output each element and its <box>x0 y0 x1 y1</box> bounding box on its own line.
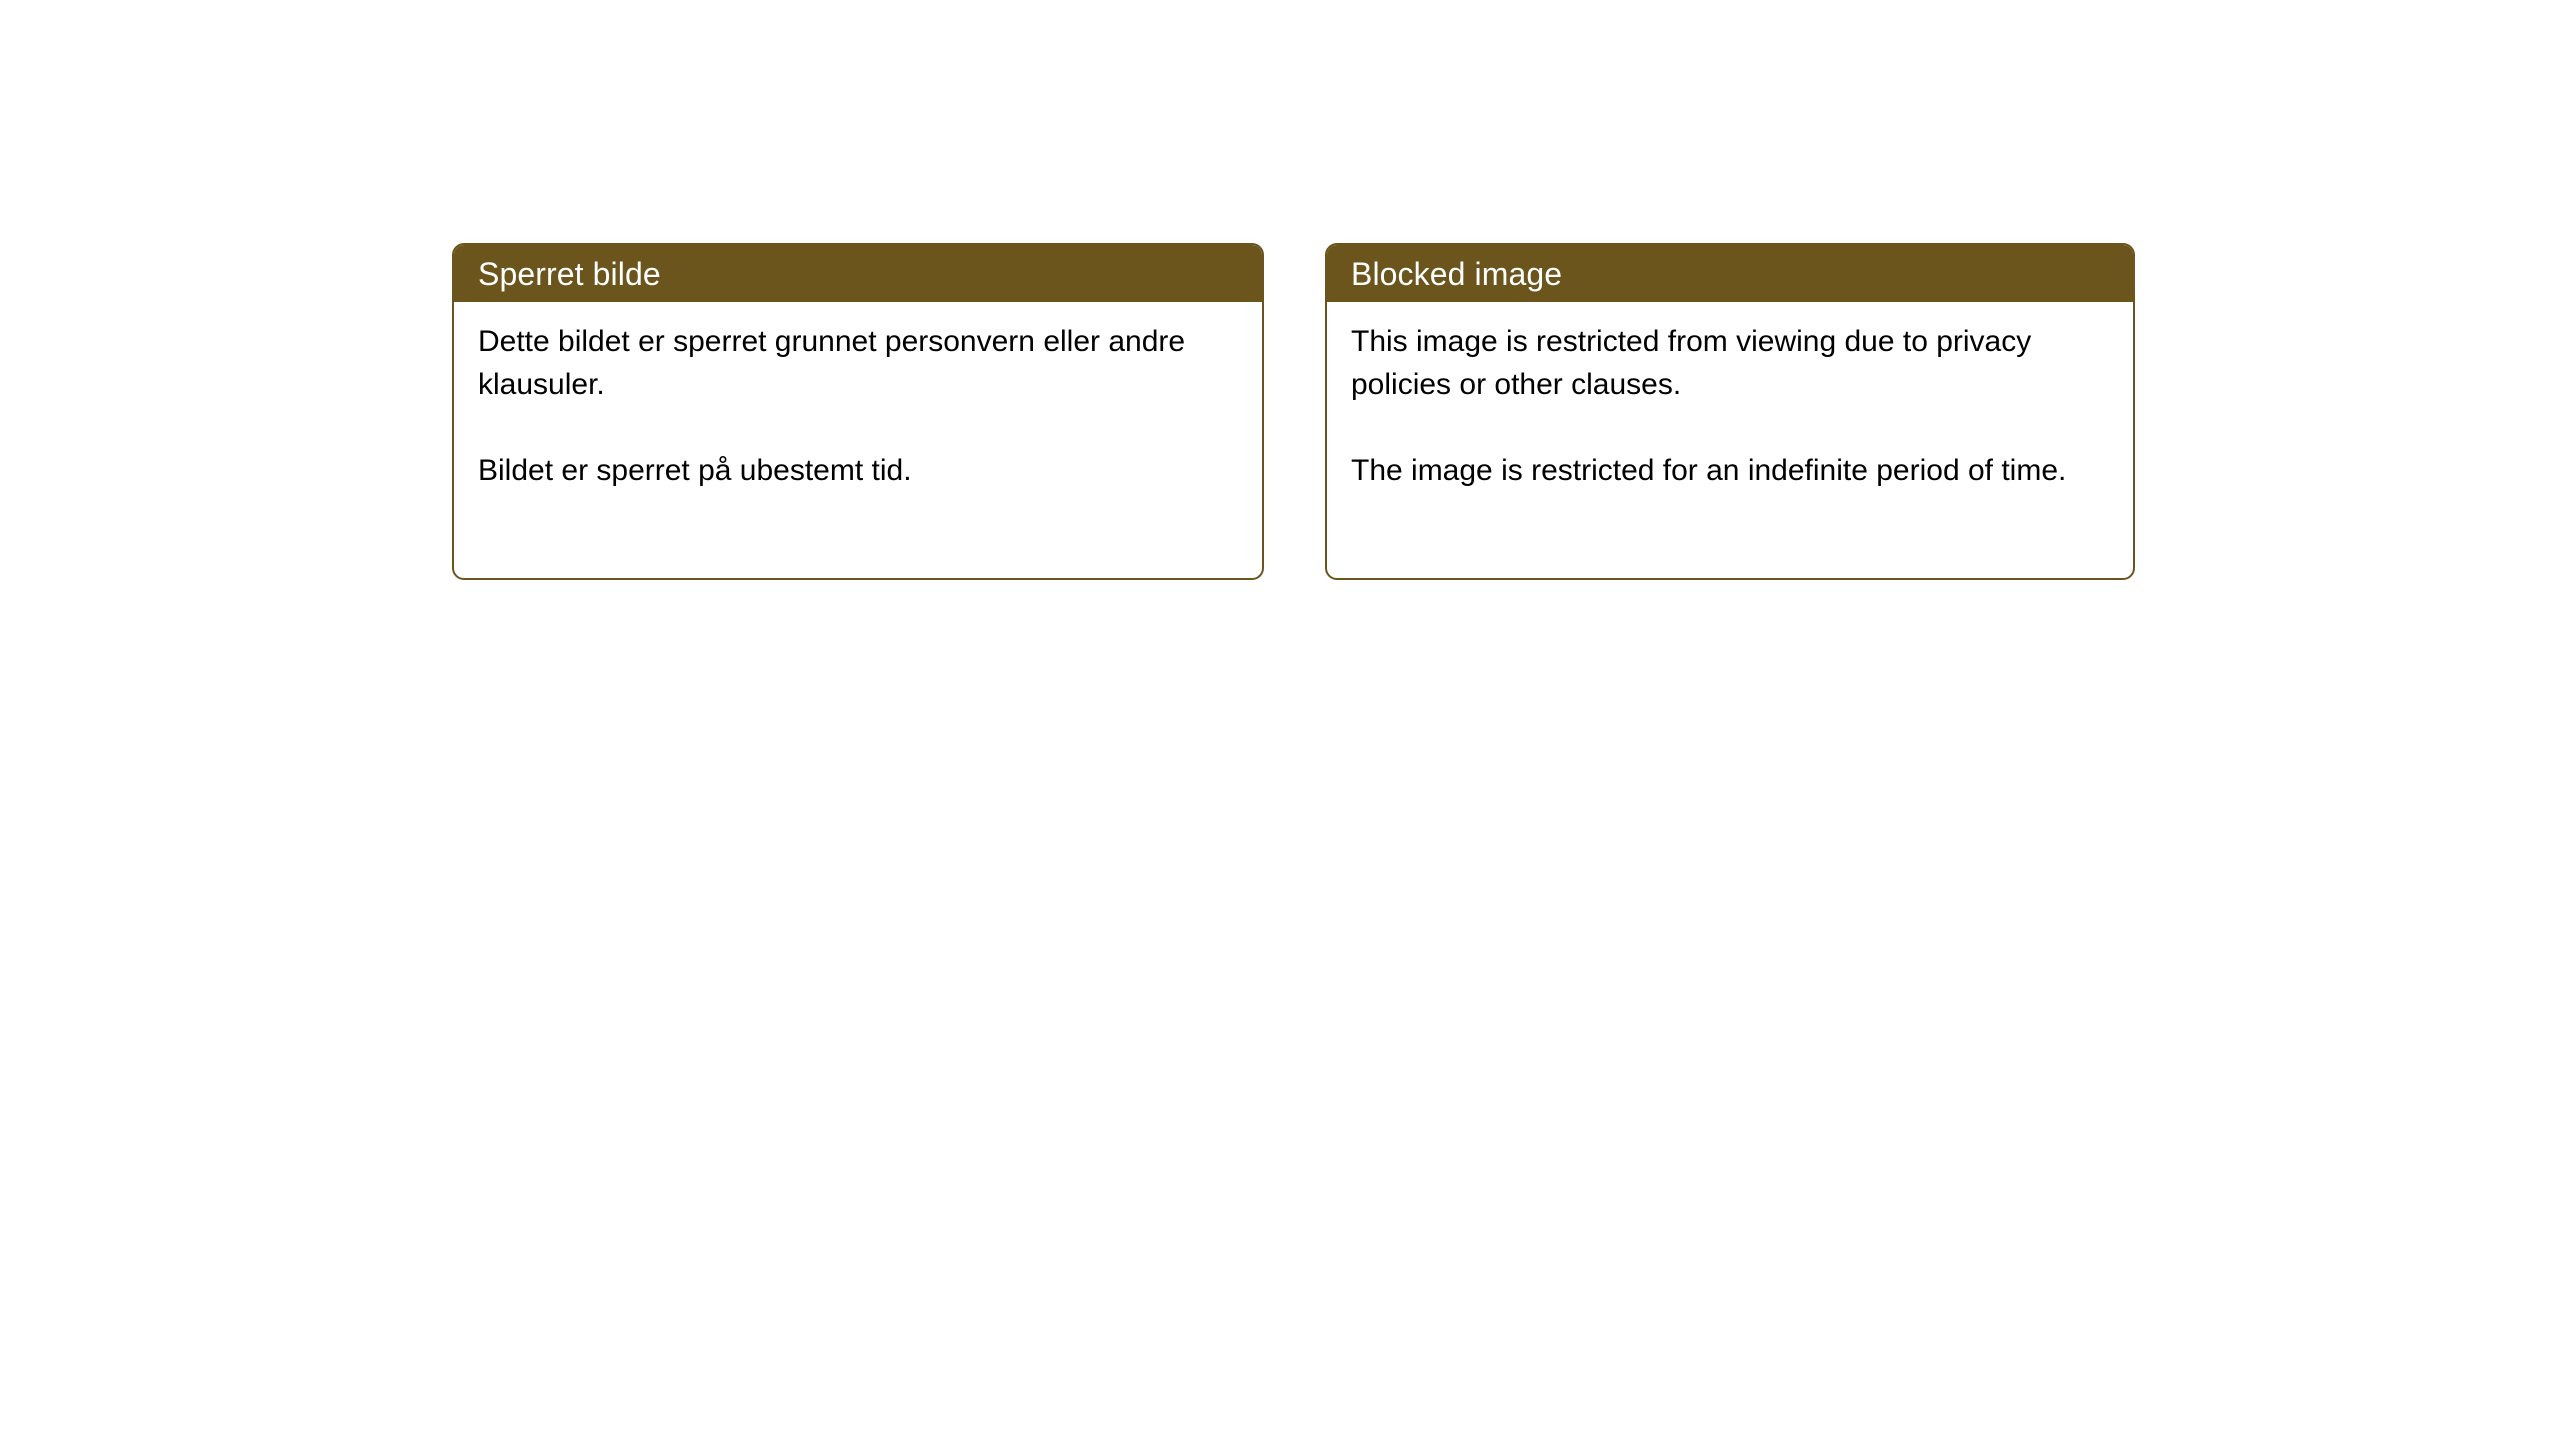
panel-body-english: This image is restricted from viewing du… <box>1327 302 2133 492</box>
panel-paragraph-duration-english: The image is restricted for an indefinit… <box>1351 449 2111 492</box>
panel-header-english: Blocked image <box>1327 245 2133 302</box>
panel-title-english: Blocked image <box>1351 256 1562 292</box>
panel-paragraph-duration-norwegian: Bildet er sperret på ubestemt tid. <box>478 449 1240 492</box>
panel-title-norwegian: Sperret bilde <box>478 256 661 292</box>
panel-body-norwegian: Dette bildet er sperret grunnet personve… <box>454 302 1262 492</box>
page-canvas: Sperret bilde Dette bildet er sperret gr… <box>0 0 2560 1440</box>
blocked-image-notice-english: Blocked image This image is restricted f… <box>1325 243 2135 580</box>
blocked-image-notice-norwegian: Sperret bilde Dette bildet er sperret gr… <box>452 243 1264 580</box>
panel-paragraph-reason-english: This image is restricted from viewing du… <box>1351 320 2111 406</box>
panel-paragraph-reason-norwegian: Dette bildet er sperret grunnet personve… <box>478 320 1240 406</box>
panel-header-norwegian: Sperret bilde <box>454 245 1262 302</box>
